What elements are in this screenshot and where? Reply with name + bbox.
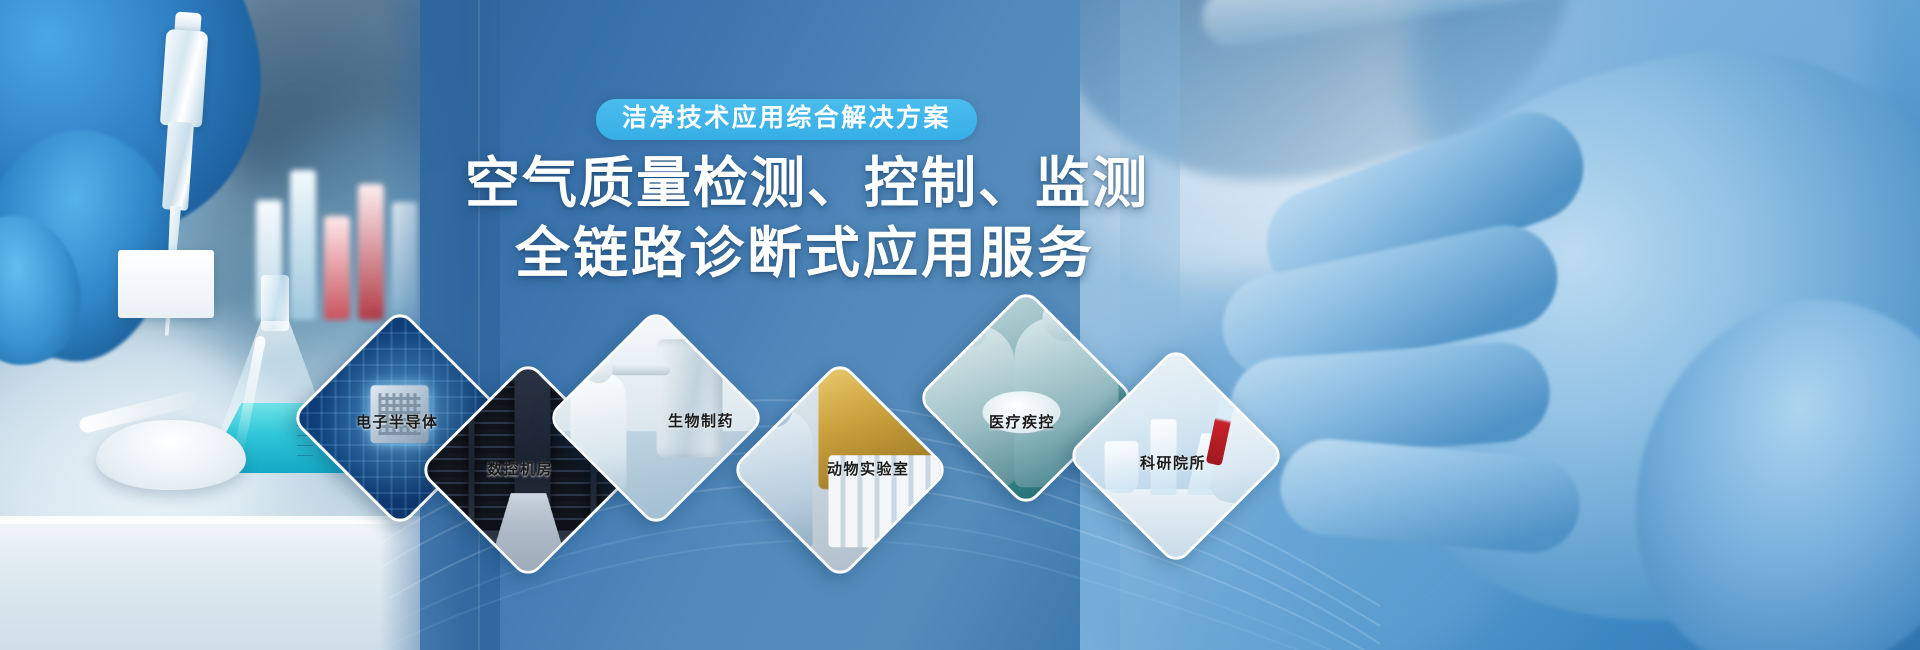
card-label-research: 科研院所 bbox=[1140, 452, 1206, 473]
card-label-animal-lab: 动物实验室 bbox=[827, 458, 910, 479]
card-label-electronics: 电子半导体 bbox=[356, 411, 439, 432]
card-label-medical: 医疗疾控 bbox=[989, 411, 1055, 432]
industry-card-row: 电子半导体 数控机房 生物制药 bbox=[0, 0, 1920, 650]
lab-glassware bbox=[1105, 441, 1139, 493]
process-tank bbox=[657, 339, 723, 457]
lab-bench bbox=[1069, 489, 1284, 564]
card-label-datacenter: 数控机房 bbox=[487, 458, 553, 479]
card-label-biopharma: 生物制药 bbox=[668, 410, 734, 431]
hero-banner: 洁净技术应用综合解决方案 空气质量检测、控制、监测 全链路诊断式应用服务 电子半… bbox=[0, 0, 1920, 650]
